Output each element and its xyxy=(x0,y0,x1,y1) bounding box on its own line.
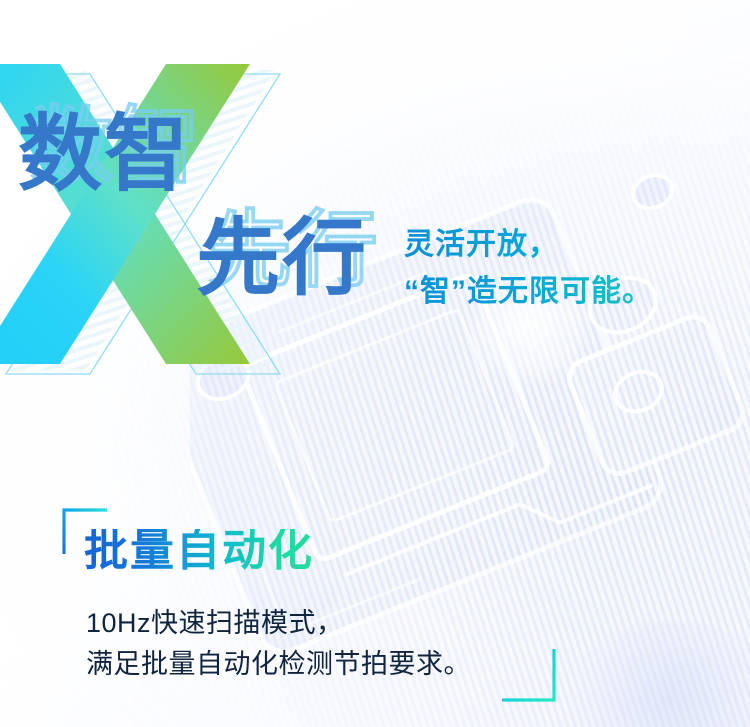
tagline-line2: “智”造无限可能。 xyxy=(404,269,734,316)
corner-bracket-bottom-right-icon xyxy=(500,647,556,703)
tagline-line1: 灵活开放， xyxy=(404,222,734,269)
feature-description-line2: 满足批量自动化检测节拍要求。 xyxy=(86,644,471,685)
feature-description: 10Hz快速扫描模式， 满足批量自动化检测节拍要求。 xyxy=(86,603,471,685)
feature-title: 批量自动化 xyxy=(84,529,314,573)
poster-canvas: 数智 先行 数智 先行 灵活开放， “智”造无限可能。 xyxy=(0,0,750,727)
feature-section: 批量自动化 10Hz快速扫描模式， 满足批量自动化检测节拍要求。 xyxy=(0,495,750,727)
tagline-group: 灵活开放， “智”造无限可能。 xyxy=(404,222,734,315)
feature-description-line1: 10Hz快速扫描模式， xyxy=(86,603,471,644)
x-logo-icon xyxy=(0,58,304,410)
hero-section: 数智 先行 数智 先行 灵活开放， “智”造无限可能。 xyxy=(0,0,750,470)
